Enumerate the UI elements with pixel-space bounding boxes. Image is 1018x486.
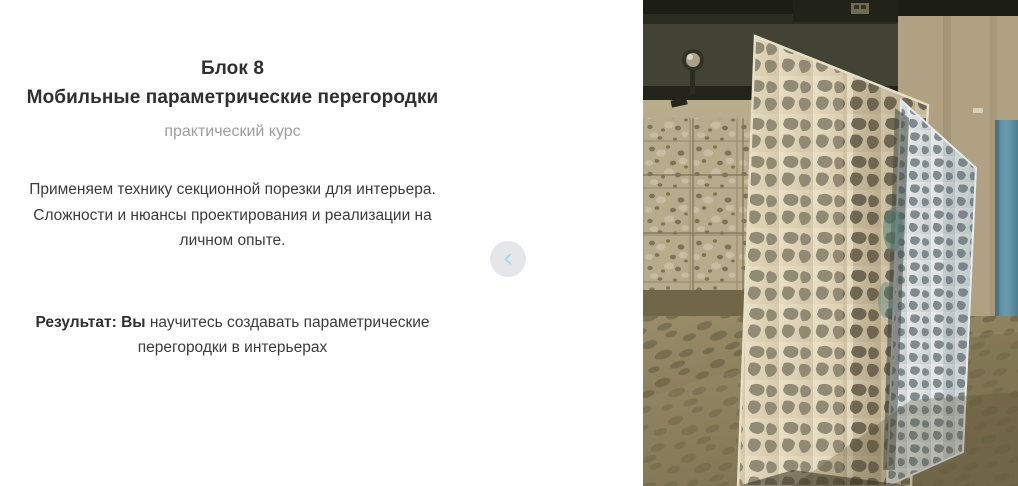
page-title: Мобильные параметрические перегородки bbox=[10, 84, 455, 112]
block-result: Результат: Вы научитесь создавать параме… bbox=[10, 310, 455, 361]
block-result-text: научитесь создавать параметрические пере… bbox=[138, 314, 430, 357]
prev-slide-button[interactable] bbox=[490, 241, 526, 277]
course-block-slide: Блок 8 Мобильные параметрические перегор… bbox=[0, 0, 1018, 486]
chevron-left-icon bbox=[500, 251, 516, 267]
block-subtitle: практический курс bbox=[10, 119, 455, 145]
block-number: Блок 8 bbox=[10, 55, 455, 83]
text-content: Блок 8 Мобильные параметрические перегор… bbox=[10, 55, 455, 361]
text-pane: Блок 8 Мобильные параметрические перегор… bbox=[0, 0, 643, 486]
block-description: Применяем технику секционной порезки для… bbox=[10, 177, 455, 254]
block-result-label: Результат: Вы bbox=[35, 314, 145, 331]
gallery-photo bbox=[643, 0, 1018, 486]
